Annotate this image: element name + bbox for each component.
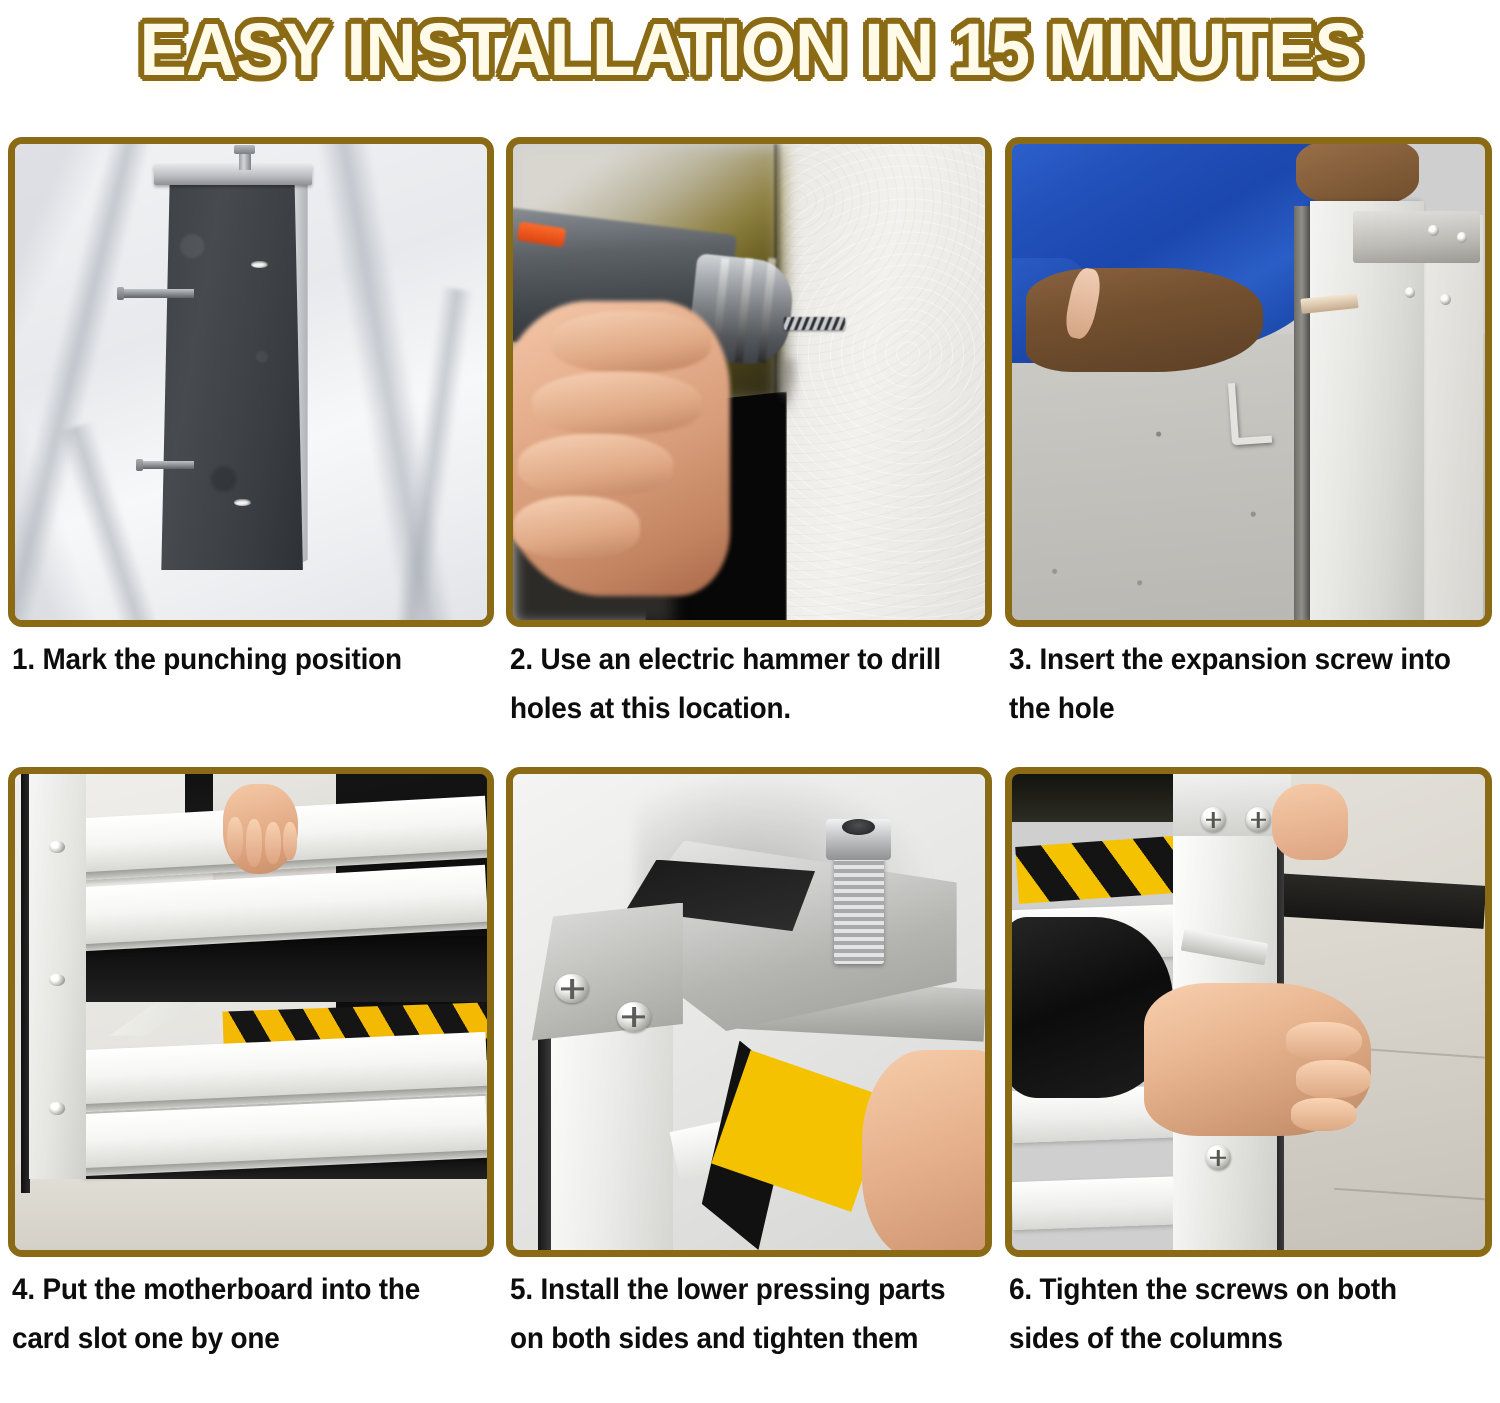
finger: [227, 817, 243, 860]
step-2-photo: [506, 137, 992, 627]
step-6-caption: 6. Tighten the screws on both sides of t…: [1009, 1265, 1467, 1363]
finger: [551, 311, 711, 373]
step-1-caption: 1. Mark the punching position: [12, 635, 470, 684]
step-5-caption: 5. Install the lower pressing parts on b…: [510, 1265, 968, 1363]
bracket-left-cap: [532, 903, 683, 1041]
column-base: [161, 175, 303, 570]
finger: [1286, 1022, 1362, 1060]
finger: [246, 819, 262, 867]
worker-arm: [1026, 268, 1263, 373]
step-card-2: 2. Use an electric hammer to drill holes…: [506, 137, 992, 767]
column-texture: [161, 175, 303, 570]
finger: [1291, 1098, 1357, 1131]
step-3-caption: 3. Insert the expansion screw into the h…: [1009, 635, 1467, 733]
finger: [283, 822, 297, 860]
step-card-6: 6. Tighten the screws on both sides of t…: [1005, 767, 1492, 1403]
column-far-face: [1421, 215, 1482, 620]
expansion-screw: [1405, 287, 1416, 298]
bolt-upper: [119, 289, 195, 298]
finger: [265, 822, 281, 865]
bolt-socket-hole: [842, 819, 876, 835]
steps-grid: 1. Mark the punching position: [0, 0, 1500, 1403]
white-column: [551, 1012, 674, 1250]
mark-hole-upper: [251, 261, 268, 269]
post-screw: [49, 1102, 65, 1114]
step-6-photo: [1005, 767, 1492, 1257]
phillips-screw: [1201, 807, 1226, 832]
column-top-cap: [154, 164, 312, 185]
finger: [513, 496, 640, 558]
column-dark-edge: [538, 1012, 550, 1250]
step-4-caption: 4. Put the motherboard into the card slo…: [12, 1265, 470, 1363]
phillips-screw: [617, 1002, 651, 1032]
dark-top-region: [1012, 774, 1182, 822]
step-1-photo: [8, 137, 494, 627]
column-side-edge: [1294, 206, 1311, 620]
post-screw: [49, 841, 65, 853]
wall-surface: [777, 144, 985, 620]
drill-dust: [773, 358, 801, 406]
phillips-screw: [1206, 1145, 1231, 1170]
phillips-screw: [1246, 807, 1271, 832]
installation-guide-infographic: EASY INSTALLATION IN 15 MINUTES: [0, 0, 1500, 1403]
top-stud-head: [234, 145, 256, 154]
step-5-photo: [506, 767, 992, 1257]
white-column: [1310, 201, 1424, 620]
step-card-4: 4. Put the motherboard into the card slo…: [8, 767, 494, 1403]
step-2-caption: 2. Use an electric hammer to drill holes…: [510, 635, 968, 733]
worker-second-hand: [1296, 144, 1419, 206]
allen-key-icon: [1227, 381, 1271, 446]
bolt-lower: [138, 461, 195, 470]
drill-bit: [784, 317, 845, 329]
finger: [518, 434, 674, 496]
step-4-photo: [8, 767, 494, 1257]
step-card-3: 3. Insert the expansion screw into the h…: [1005, 137, 1492, 767]
expansion-screw: [1428, 225, 1439, 236]
second-hand: [1272, 784, 1348, 860]
step-card-1: 1. Mark the punching position: [8, 137, 494, 767]
finger: [532, 372, 702, 434]
hand: [862, 1050, 985, 1250]
step-card-5: 5. Install the lower pressing parts on b…: [506, 767, 992, 1403]
expansion-screw: [1440, 294, 1451, 305]
step-3-photo: [1005, 137, 1492, 627]
board-3: [1012, 1175, 1193, 1229]
finger: [1296, 1060, 1372, 1098]
hazard-stripe: [1015, 835, 1189, 904]
